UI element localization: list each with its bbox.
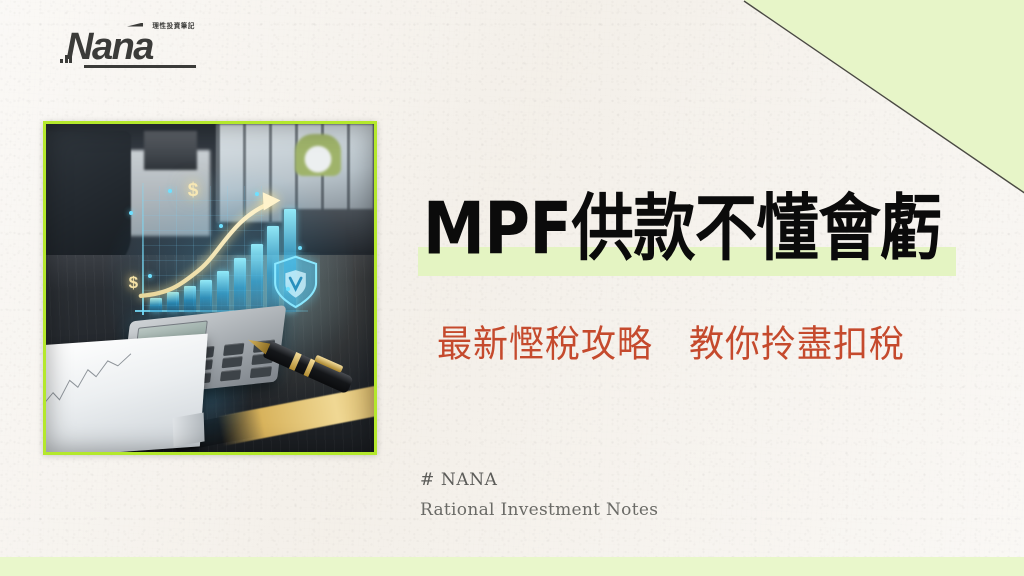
brand-logo: 理性投資筆記 Nana <box>56 20 196 70</box>
slide-canvas: 理性投資筆記 Nana <box>0 0 1024 576</box>
logo-tagline: 理性投資筆記 <box>152 20 195 31</box>
logo-underline <box>84 65 196 68</box>
footer-handle: # NANA <box>420 470 498 490</box>
hero-photo: $ $ <box>43 121 377 455</box>
notebook-line-chart <box>46 349 149 413</box>
hero-photo-scene: $ $ <box>46 124 374 452</box>
logo-wordmark: Nana <box>66 28 153 66</box>
notebook <box>46 334 207 452</box>
page-subtitle: 最新慳稅攻略 教你拎盡扣稅 <box>437 314 905 368</box>
notebook-page-edge <box>173 413 205 447</box>
hologram-dollar-icon-2: $ <box>188 180 199 202</box>
footer-tagline: Rational Investment Notes <box>420 500 658 520</box>
page-title: MPF供款不懂會虧 <box>423 193 994 267</box>
hologram-shield-icon <box>272 252 319 312</box>
bottom-accent-band <box>0 557 1024 576</box>
corner-triangle-decoration <box>744 0 1024 192</box>
hologram-chart: $ $ <box>125 176 322 333</box>
hologram-dollar-icon-1: $ <box>129 273 138 293</box>
